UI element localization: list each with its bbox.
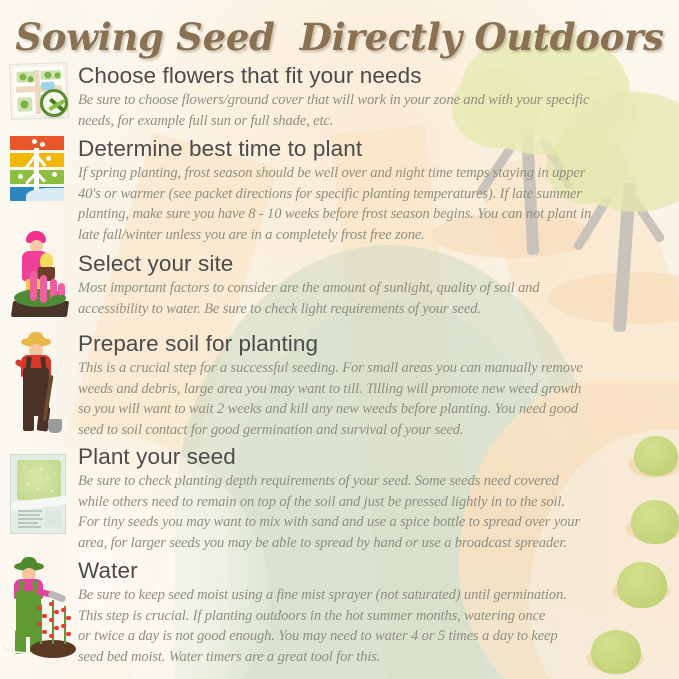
seed-packet-icon	[10, 454, 72, 534]
section-heading: Select your site	[78, 251, 671, 277]
section-body: Be sure to check planting depth requirem…	[78, 471, 671, 553]
four-seasons-icon	[10, 136, 72, 202]
section-body: Be sure to keep seed moist using a fine …	[78, 585, 671, 667]
section-heading: Prepare soil for planting	[78, 331, 671, 357]
section-body: This is a crucial step for a successful …	[78, 358, 671, 440]
compass-icon	[40, 89, 68, 117]
section-heading: Plant your seed	[78, 444, 671, 470]
page-title: Sowing Seed Directly Outdoors	[0, 15, 679, 59]
section-body: Be sure to choose flowers/ground cover t…	[78, 90, 671, 131]
section-body: If spring planting, frost season should …	[78, 163, 671, 245]
section-heading: Water	[78, 558, 671, 584]
section-heading: Determine best time to plant	[78, 136, 671, 162]
section-heading: Choose flowers that fit your needs	[78, 63, 671, 89]
garden-plan-compass-icon	[10, 63, 72, 119]
woman-with-flowers-icon	[10, 231, 72, 319]
section-body: Most important factors to consider are t…	[78, 278, 671, 319]
gardener-watering-icon	[6, 560, 68, 660]
infographic-page: Sowing Seed Directly Outdoors	[0, 0, 679, 679]
farmer-with-shovel-icon	[10, 335, 72, 435]
